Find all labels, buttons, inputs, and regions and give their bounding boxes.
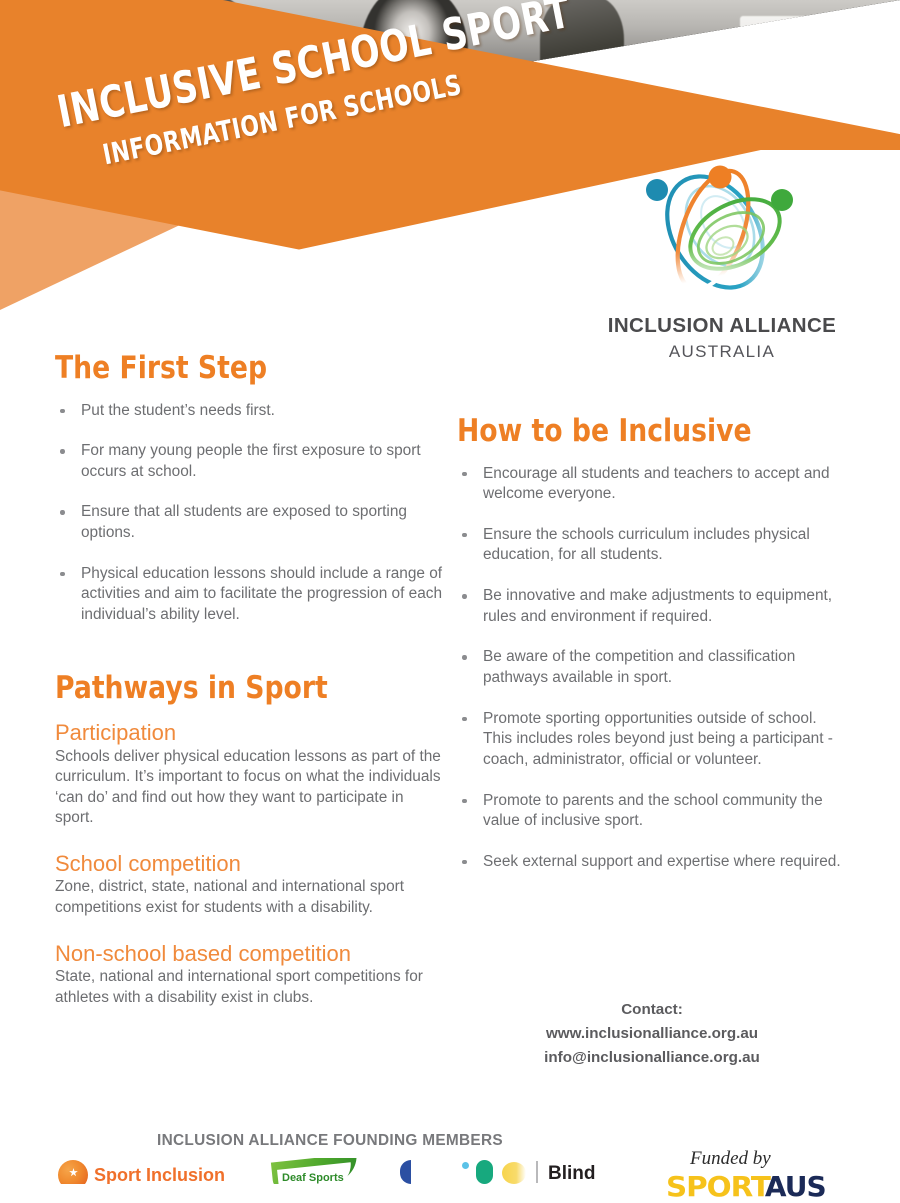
list-item: Promote to parents and the school commun…	[457, 791, 847, 832]
list-item: For many young people the first exposure…	[55, 441, 445, 482]
list-item: Ensure the schools curriculum includes p…	[457, 525, 847, 566]
pathways-text-participation: Schools deliver physical education lesso…	[55, 747, 445, 830]
sport-inclusion-label: Sport Inclusion	[94, 1165, 225, 1184]
first-step-list: Put the student’s needs first. For many …	[55, 401, 445, 626]
founding-members-title: INCLUSION ALLIANCE FOUNDING MEMBERS	[0, 1132, 660, 1150]
list-item: Be aware of the competition and classifi…	[457, 647, 847, 688]
blind-logo-dot-lightblue	[462, 1162, 469, 1169]
list-item: Seek external support and expertise wher…	[457, 852, 847, 873]
logo-subtitle: AUSTRALIA	[572, 342, 872, 362]
logo-dot-orange	[709, 166, 732, 189]
logo-orbit-icon	[617, 160, 827, 310]
list-item: Be innovative and make adjustments to eq…	[457, 586, 847, 627]
contact-email[interactable]: info@inclusionalliance.org.au	[457, 1046, 847, 1070]
contact-label: Contact:	[457, 998, 847, 1022]
blind-logo-label: Blind	[548, 1163, 596, 1184]
left-column: The First Step Put the student’s needs f…	[55, 352, 445, 1030]
pathways-text-school-competition: Zone, district, state, national and inte…	[55, 877, 445, 918]
deaf-sports-label: Deaf Sports	[282, 1172, 344, 1184]
inclusion-alliance-logo: INCLUSION ALLIANCE AUSTRALIA	[572, 160, 872, 385]
photo-signage-board	[740, 16, 900, 94]
pathways-subheading-non-school-competition: Non-school based competition	[55, 941, 445, 966]
contact-website[interactable]: www.inclusionalliance.org.au	[457, 1022, 847, 1046]
list-item: Ensure that all students are exposed to …	[55, 502, 445, 543]
pathways-heading: Pathways in Sport	[55, 672, 390, 705]
funded-by-label: Funded by	[690, 1148, 890, 1170]
how-to-be-inclusive-list: Encourage all students and teachers to a…	[457, 464, 847, 873]
sport-australia-sport-text: SPORT	[666, 1170, 770, 1203]
contact-block: Contact: www.inclusionalliance.org.au in…	[457, 998, 847, 1070]
sport-australia-logo: SPORTAUS	[666, 1170, 826, 1203]
pathways-subheading-participation: Participation	[55, 720, 445, 745]
sport-australia-aus-text: AUS	[765, 1170, 826, 1203]
photo-signage-text	[742, 46, 900, 82]
list-item: Put the student’s needs first.	[55, 401, 445, 422]
how-to-be-inclusive-heading: How to be Inclusive	[457, 415, 792, 448]
blind-logo-shape-blue	[400, 1160, 411, 1184]
list-item: Encourage all students and teachers to a…	[457, 464, 847, 505]
list-item: Physical education lessons should includ…	[55, 564, 445, 626]
blind-logo-shape-yellow	[502, 1162, 526, 1184]
right-column: How to be Inclusive Encourage all studen…	[457, 415, 847, 893]
blind-logo-divider	[536, 1161, 538, 1183]
logo-title: INCLUSION ALLIANCE	[572, 314, 872, 338]
logo-dot-blue	[646, 179, 668, 201]
first-step-heading: The First Step	[55, 352, 390, 385]
list-item: Promote sporting opportunities outside o…	[457, 709, 847, 771]
blind-logo-shape-green	[476, 1160, 493, 1184]
logo-dot-green	[771, 189, 793, 211]
spacer	[55, 646, 445, 672]
pathways-text-non-school-competition: State, national and international sport …	[55, 967, 445, 1008]
pathways-subheading-school-competition: School competition	[55, 851, 445, 876]
